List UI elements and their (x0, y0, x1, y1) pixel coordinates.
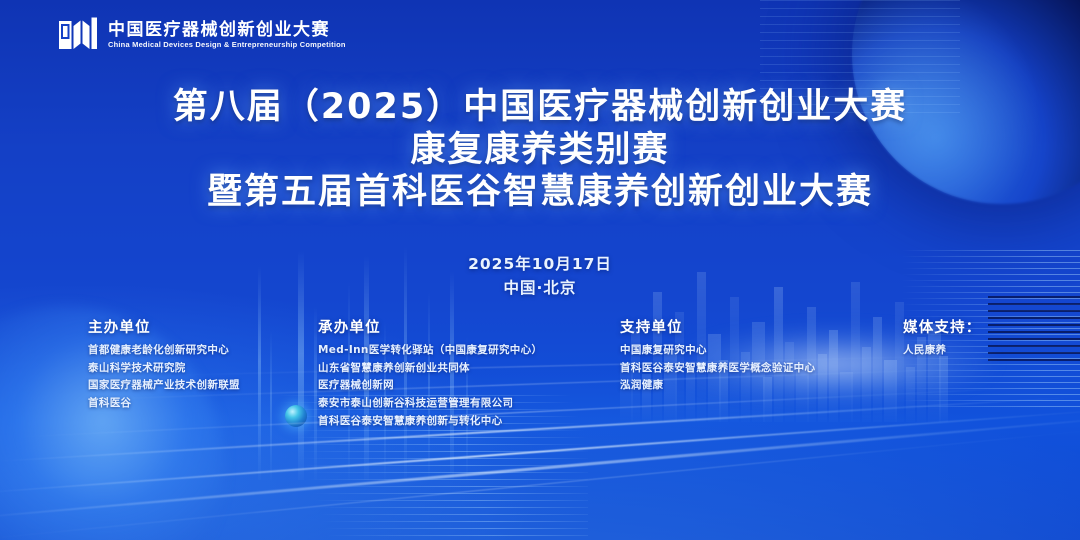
poster-canvas: 中国医疗器械创新创业大赛 China Medical Devices Desig… (0, 0, 1080, 540)
organization-heading: 主办单位 (88, 316, 303, 337)
organization-columns: 主办单位 首都健康老龄化创新研究中心 泰山科学技术研究院 国家医疗器械产业技术创… (0, 316, 1080, 456)
organization-item: Med-Inn医学转化驿站（中国康复研究中心） (318, 342, 618, 360)
organization-item: 山东省智慧康养创新创业共同体 (318, 360, 618, 378)
organization-heading: 媒体支持： (903, 316, 1063, 337)
logo-english-name: China Medical Devices Design & Entrepren… (108, 41, 346, 49)
logo-text-block: 中国医疗器械创新创业大赛 China Medical Devices Desig… (108, 22, 346, 49)
organization-item: 医疗器械创新网 (318, 377, 618, 395)
event-meta: 2025年10月17日 中国·北京 (0, 252, 1080, 300)
organization-heading: 支持单位 (620, 316, 870, 337)
event-logo: 中国医疗器械创新创业大赛 China Medical Devices Desig… (58, 16, 346, 54)
organization-item: 国家医疗器械产业技术创新联盟 (88, 377, 303, 395)
page-title: 第八届（2025）中国医疗器械创新创业大赛 康复康养类别赛 暨第五届首科医谷智慧… (0, 86, 1080, 214)
event-date: 2025年10月17日 (0, 252, 1080, 276)
organization-item: 首科医谷 (88, 395, 303, 413)
organization-column-supporter: 支持单位 中国康复研究中心 首科医谷泰安智慧康养医学概念验证中心 泓润健康 (620, 316, 870, 395)
organization-heading: 承办单位 (318, 316, 618, 337)
organization-column-organizer: 承办单位 Med-Inn医学转化驿站（中国康复研究中心） 山东省智慧康养创新创业… (318, 316, 618, 430)
title-line-2: 康复康养类别赛 (0, 129, 1080, 172)
organization-item: 人民康养 (903, 342, 1063, 360)
organization-item: 中国康复研究中心 (620, 342, 870, 360)
organization-item: 泰山科学技术研究院 (88, 360, 303, 378)
organization-column-media: 媒体支持： 人民康养 (903, 316, 1063, 360)
open-door-icon (58, 16, 98, 54)
event-location: 中国·北京 (0, 276, 1080, 300)
logo-chinese-name: 中国医疗器械创新创业大赛 (108, 22, 346, 39)
organization-column-host: 主办单位 首都健康老龄化创新研究中心 泰山科学技术研究院 国家医疗器械产业技术创… (88, 316, 303, 413)
organization-item: 首都健康老龄化创新研究中心 (88, 342, 303, 360)
title-line-1: 第八届（2025）中国医疗器械创新创业大赛 (0, 86, 1080, 129)
organization-item: 泓润健康 (620, 377, 870, 395)
organization-item: 首科医谷泰安智慧康养医学概念验证中心 (620, 360, 870, 378)
organization-item: 首科医谷泰安智慧康养创新与转化中心 (318, 413, 618, 431)
title-line-3: 暨第五届首科医谷智慧康养创新创业大赛 (0, 171, 1080, 214)
organization-item: 泰安市泰山创新谷科技运营管理有限公司 (318, 395, 618, 413)
